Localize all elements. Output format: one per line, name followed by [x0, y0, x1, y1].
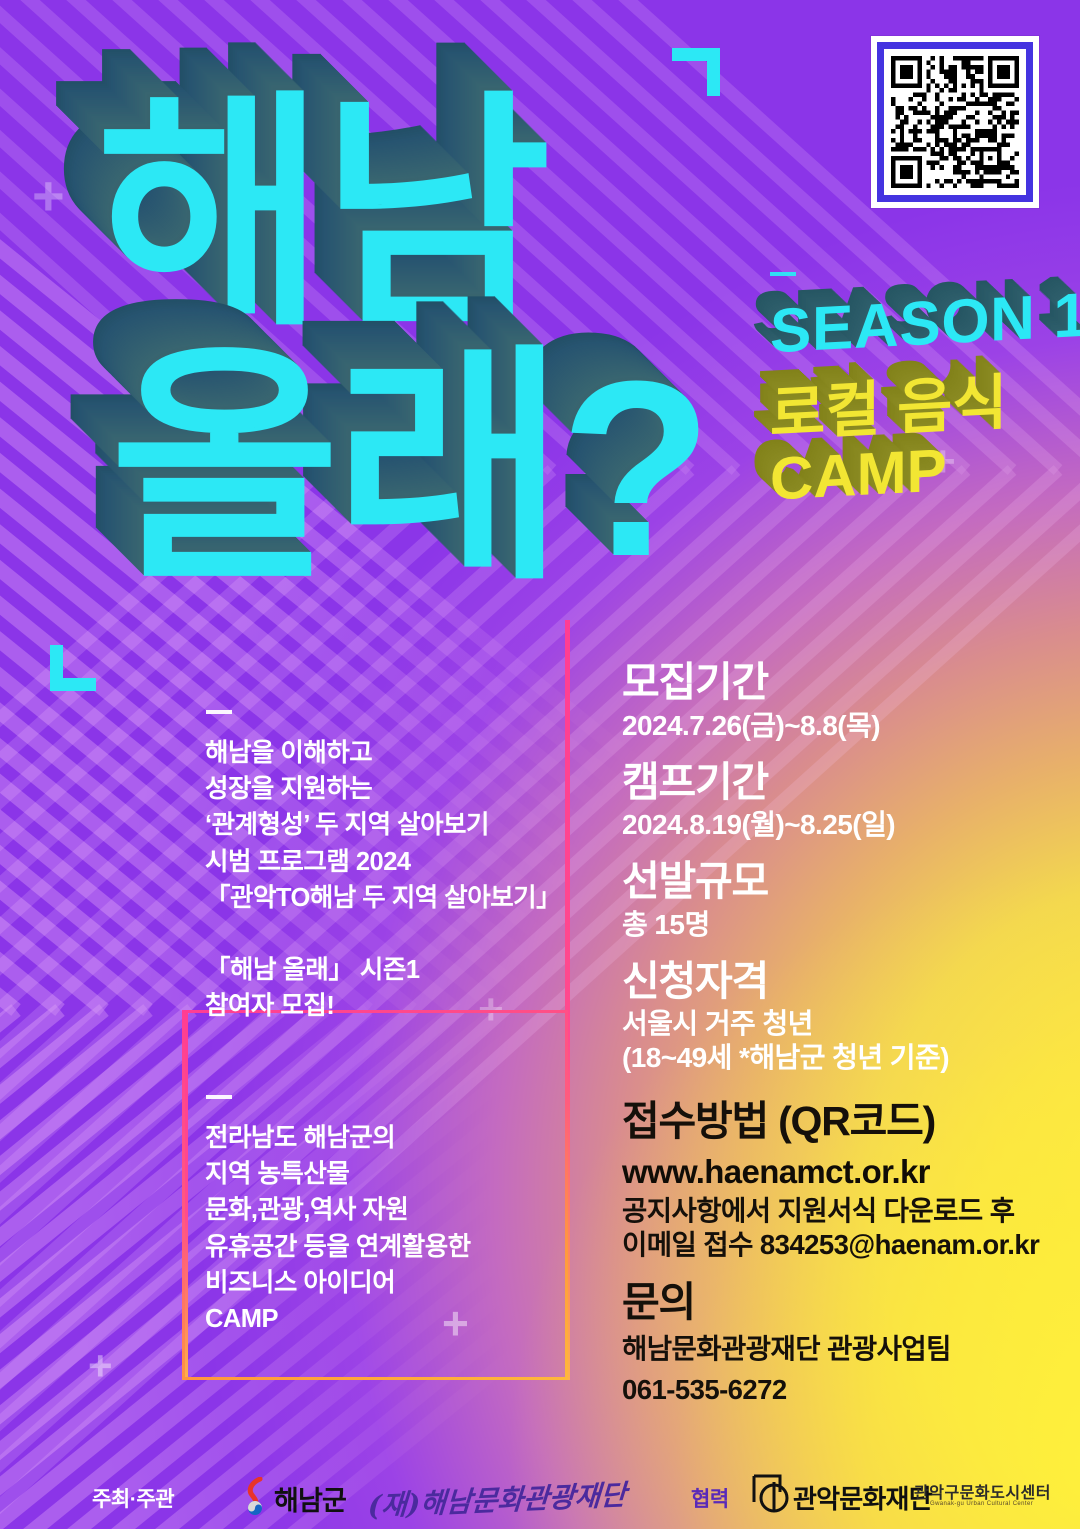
qr-code-block[interactable] — [871, 36, 1039, 208]
apply-body: 공지사항에서 지원서식 다운로드 후 이메일 접수 834253@haenam.… — [622, 1194, 1062, 1263]
info-body: 서울시 거주 청년 (18~49세 *해남군 청년 기준) — [622, 1007, 1062, 1074]
corner-bracket-top-right-icon — [672, 48, 720, 96]
poster-title-line2: 올래? — [110, 350, 708, 588]
contact-org: 해남문화관광재단 관광사업팀 — [622, 1332, 1062, 1367]
section-dash-icon — [206, 1095, 232, 1099]
qr-code-icon — [891, 56, 1019, 188]
left-copy-block-2: 전라남도 해남군의 지역 농특산물 문화,관광,역사 자원 유휴공간 등을 연계… — [205, 1120, 605, 1337]
footer-partner-2-en: Gwanak-gu Urban Cultural Center — [930, 1501, 1033, 1507]
info-group-apply: 접수방법 (QR코드) www.haenamct.or.kr 공지사항에서 지원… — [622, 1099, 1062, 1263]
poster-root: + + + + + 해남 올래? SEASON 1 로컬 음식 CAMP 해남을… — [0, 0, 1080, 1529]
footer-partner-label: 협력 — [691, 1483, 729, 1513]
info-heading: 캠프기간 — [622, 760, 1062, 806]
plus-decor-icon: + — [32, 168, 65, 224]
footer-host-1: 해남군 — [274, 1479, 346, 1518]
footer-bar: 주최·주관 해남군 (재)해남문화관광재단 협력 관악문화재단 관악구문화도시센… — [0, 1457, 1080, 1529]
section-dash-icon — [206, 710, 232, 714]
info-group-camp-period: 캠프기간 2024.8.19(월)~8.25(일) — [622, 760, 1062, 843]
left-copy-block-1: 해남을 이해하고 성장을 지원하는 ‘관계형성’ 두 지역 살아보기 시범 프로… — [205, 735, 595, 1025]
apply-heading: 접수방법 (QR코드) — [622, 1099, 1062, 1145]
info-heading: 모집기간 — [622, 660, 1062, 706]
info-heading: 선발규모 — [622, 859, 1062, 905]
info-group-eligibility: 신청자격 서울시 거주 청년 (18~49세 *해남군 청년 기준) — [622, 959, 1062, 1075]
apply-url[interactable]: www.haenamct.or.kr — [622, 1151, 1062, 1192]
footer-host-2: (재)해남문화관광재단 — [367, 1473, 628, 1524]
contact-phone: 061-535-6272 — [622, 1373, 1062, 1408]
contact-heading: 문의 — [622, 1280, 1062, 1326]
info-group-contact: 문의 해남문화관광재단 관광사업팀 061-535-6272 — [622, 1280, 1062, 1407]
info-group-selection-size: 선발규모 총 15명 — [622, 859, 1062, 942]
poster-title-line1: 해남 — [96, 96, 546, 334]
season-subtitle-en: CAMP — [770, 435, 947, 513]
footer-partner-2: 관악구문화도시센터 — [914, 1479, 1051, 1503]
corner-bracket-bottom-left-icon — [50, 645, 96, 691]
info-panel: 모집기간 2024.7.26(금)~8.8(목) 캠프기간 2024.8.19(… — [622, 660, 1062, 1424]
footer-partner-1: 관악문화재단 — [793, 1479, 932, 1516]
info-group-recruit: 모집기간 2024.7.26(금)~8.8(목) — [622, 660, 1062, 743]
plus-decor-icon: + — [88, 1345, 113, 1387]
footer-host-label: 주최·주관 — [92, 1483, 174, 1513]
info-heading: 신청자격 — [622, 959, 1062, 1005]
info-body: 총 15명 — [622, 908, 1062, 942]
info-body: 2024.7.26(금)~8.8(목) — [622, 709, 1062, 743]
section-dash-icon — [770, 272, 796, 276]
info-body: 2024.8.19(월)~8.25(일) — [622, 808, 1062, 842]
gwanak-foundation-logo-icon — [750, 1472, 796, 1514]
haenam-gun-logo-icon — [243, 1477, 269, 1517]
